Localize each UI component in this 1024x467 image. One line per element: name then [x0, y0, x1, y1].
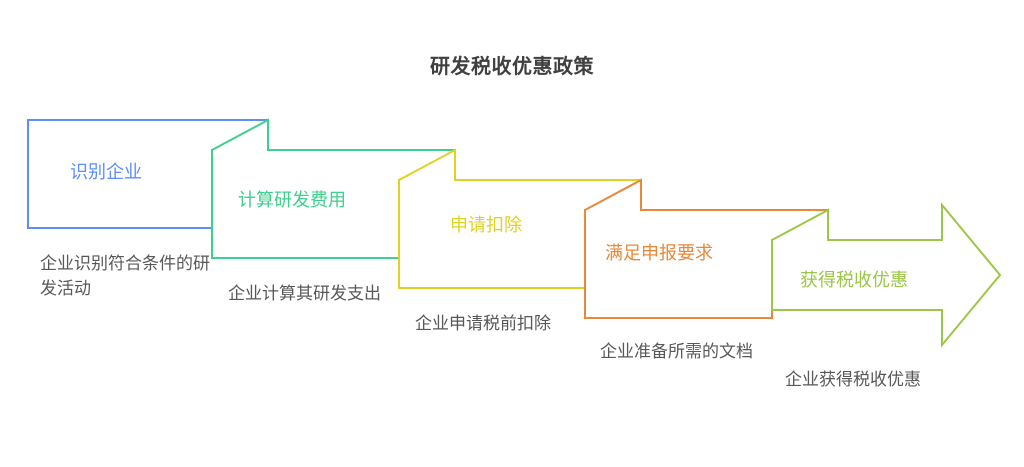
step-label-1: 识别企业 — [70, 162, 142, 184]
step-label-5: 获得税收优惠 — [800, 270, 908, 292]
step-description-5: 企业获得税收优惠 — [785, 368, 950, 393]
step-description-4: 企业准备所需的文档 — [600, 340, 780, 365]
step-description-1: 企业识别符合条件的研发活动 — [40, 252, 215, 301]
step-label-2: 计算研发费用 — [238, 190, 346, 212]
step-label-3: 申请扣除 — [450, 215, 522, 237]
step-description-2: 企业计算其研发支出 — [228, 282, 408, 307]
step-description-3: 企业申请税前扣除 — [415, 312, 595, 337]
diagram-canvas: 研发税收优惠政策 识别企业 计算研发费用 申请扣除 满足申报要求 获得税收优惠 … — [0, 0, 1024, 467]
step-label-4: 满足申报要求 — [605, 243, 713, 265]
